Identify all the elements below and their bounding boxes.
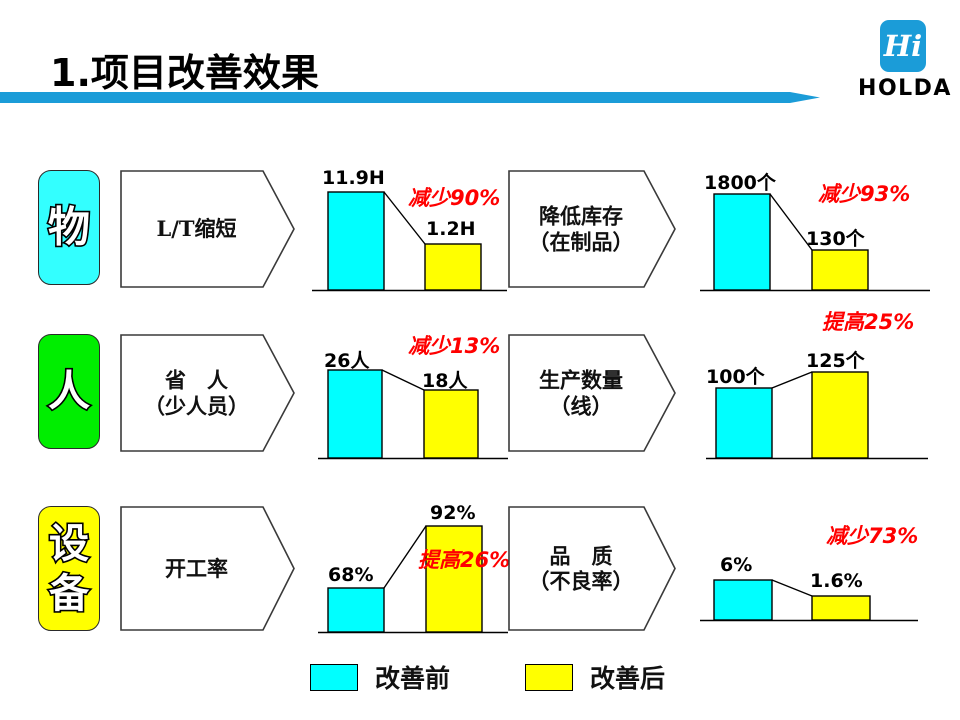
chart-production-qty: 100个 125个 提高25% (706, 328, 928, 468)
bar-value-after: 1.2H (426, 218, 476, 240)
pennant-label: L/T缩短 (120, 216, 273, 242)
bar-after (425, 244, 481, 290)
category-badge-ren: 人 (38, 334, 100, 449)
topic-pennant-reduce-inventory: 降低库存 （在制品） (508, 170, 676, 288)
bar-value-after: 125个 (806, 346, 865, 373)
topic-pennant-operation-rate: 开工率 (120, 506, 295, 631)
bar-before (328, 370, 382, 458)
category-row-shebei: 设 备 开工率 68% 92% 提高26% 品 质 （不良率） 6% (0, 492, 960, 647)
category-badge-shebei: 设 备 (38, 506, 100, 631)
legend-swatch-after (525, 664, 573, 691)
bar-before (714, 580, 772, 620)
pennant-label: 品 质 （不良率） (508, 543, 654, 594)
connector-line (772, 580, 812, 596)
chart-reduce-inventory: 1800个 130个 减少93% (700, 166, 930, 302)
bar-after (812, 372, 868, 458)
delta-annotation: 提高26% (418, 544, 510, 574)
bar-after (426, 526, 482, 632)
category-badge-label: 设 备 (39, 519, 99, 619)
bar-value-before: 6% (720, 554, 752, 576)
legend-label-before: 改善前 (375, 659, 450, 695)
bar-before (328, 588, 384, 632)
delta-annotation: 减少93% (818, 178, 910, 208)
logo-mark-icon: Hi (880, 20, 926, 72)
chart-lt-reduction: 11.9H 1.2H 减少90% (312, 172, 507, 302)
chart-operation-rate: 68% 92% 提高26% (318, 500, 508, 640)
bar-value-before: 1800个 (704, 168, 776, 195)
holda-logo: Hi HOLDA (862, 20, 948, 108)
category-badge-wu: 物 (38, 170, 100, 285)
topic-pennant-production-qty: 生产数量 （线） (508, 334, 676, 452)
delta-annotation: 减少13% (408, 330, 500, 360)
category-badge-label: 人 (39, 370, 99, 413)
bar-before (328, 192, 384, 290)
bar-value-after: 130个 (806, 224, 865, 251)
category-row-ren: 人 省 人 （少人员） 26人 18人 减少13% 生产数量 （线） 100 (0, 318, 960, 470)
logo-mark-text: Hi (880, 20, 926, 72)
bar-value-after: 1.6% (810, 570, 863, 592)
bar-before (716, 388, 772, 458)
bar-value-before: 26人 (324, 346, 369, 373)
logo-wordmark: HOLDA (858, 76, 952, 101)
category-badge-label: 物 (39, 206, 99, 249)
topic-pennant-quality: 品 质 （不良率） (508, 506, 676, 631)
pennant-label: 开工率 (120, 556, 273, 582)
connector-line (772, 372, 812, 388)
pennant-label: 降低库存 （在制品） (508, 203, 654, 254)
connector-line (382, 370, 424, 390)
legend-item-after: 改善后 (525, 660, 665, 694)
delta-annotation: 提高25% (822, 306, 914, 336)
legend-label-after: 改善后 (590, 659, 665, 695)
category-row-wu: 物 L/T缩短 11.9H 1.2H 减少90% 降低库存 （在制品） 18 (0, 160, 960, 310)
pennant-label: 省 人 （少人员） (120, 367, 273, 418)
chart-quality-defect-rate: 6% 1.6% 减少73% (700, 522, 930, 640)
bar-value-after: 18人 (422, 366, 467, 393)
bar-value-before: 68% (328, 564, 373, 586)
page-title: 1.项目改善效果 (50, 42, 319, 97)
header-divider-rule (0, 92, 820, 103)
topic-pennant-lt-reduction: L/T缩短 (120, 170, 295, 288)
topic-pennant-save-manpower: 省 人 （少人员） (120, 334, 295, 452)
bar-after (812, 596, 870, 620)
bar-after (424, 390, 478, 458)
legend-item-before: 改善前 (310, 660, 450, 694)
bar-value-after: 92% (430, 502, 475, 524)
legend-swatch-before (310, 664, 358, 691)
bar-value-before: 100个 (706, 362, 765, 389)
delta-annotation: 减少90% (408, 182, 500, 212)
bar-value-before: 11.9H (322, 167, 385, 189)
delta-annotation: 减少73% (826, 520, 918, 550)
bar-before (714, 194, 770, 290)
bar-after (812, 250, 868, 290)
chart-save-manpower: 26人 18人 减少13% (318, 336, 508, 468)
pennant-label: 生产数量 （线） (508, 367, 654, 418)
